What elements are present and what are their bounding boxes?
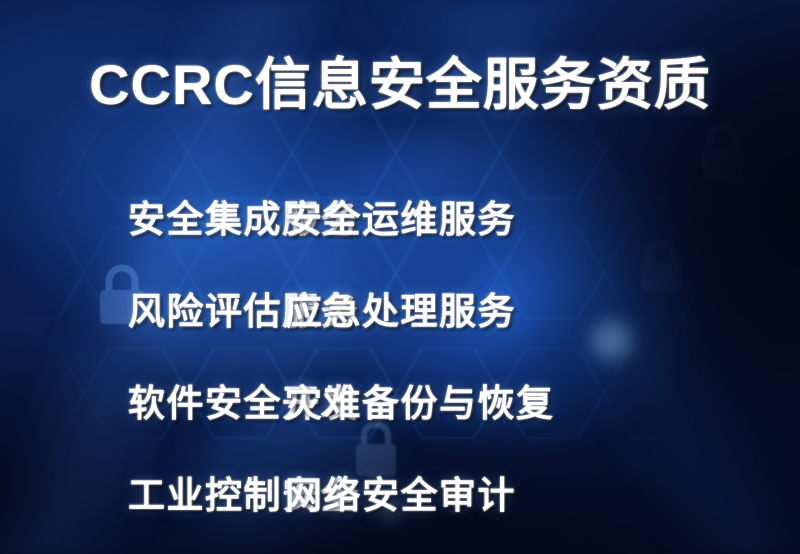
service-row: 工业控制安全 网络安全审计	[0, 450, 800, 542]
service-item-industrial-control-security: 工业控制安全	[0, 474, 285, 518]
page-title: CCRC信息安全服务资质	[0, 54, 800, 116]
service-item-risk-assessment: 风险评估服务	[0, 290, 285, 334]
service-row: 风险评估服务 应急处理服务	[0, 266, 800, 358]
ccrc-certification-poster: CCRC信息安全服务资质 安全集成服务 安全运维服务 风险评估服务 应急处理服务…	[0, 0, 800, 554]
service-item-security-integration: 安全集成服务	[0, 198, 285, 242]
service-row: 安全集成服务 安全运维服务	[0, 174, 800, 266]
service-item-security-operations: 安全运维服务	[285, 198, 516, 242]
service-item-software-security-development: 软件安全开发	[0, 382, 285, 426]
service-list: 安全集成服务 安全运维服务 风险评估服务 应急处理服务 软件安全开发 灾难备份与…	[0, 174, 800, 542]
service-item-network-security-audit: 网络安全审计	[285, 474, 516, 518]
service-item-emergency-response: 应急处理服务	[285, 290, 516, 334]
service-row: 软件安全开发 灾难备份与恢复	[0, 358, 800, 450]
service-item-disaster-backup-recovery: 灾难备份与恢复	[285, 382, 555, 426]
